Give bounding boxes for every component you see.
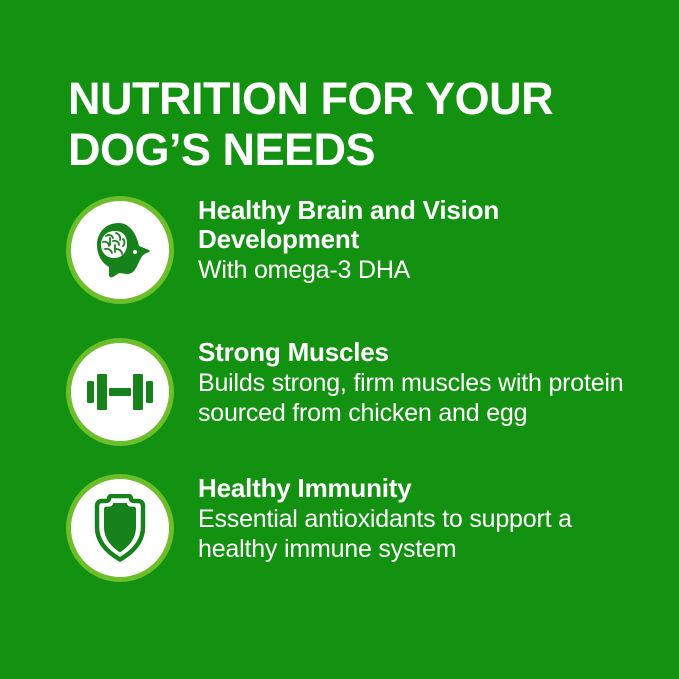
feature-text-block: Healthy Brain and Vision Development Wit…	[174, 188, 650, 285]
shield-icon	[89, 494, 151, 562]
nutrition-benefits-panel: NUTRITION FOR YOUR DOG’S NEEDS	[0, 0, 679, 679]
feature-title: Strong Muscles	[198, 338, 650, 367]
feature-title: Healthy Immunity	[198, 474, 650, 503]
feature-text-block: Strong Muscles Builds strong, firm muscl…	[174, 330, 650, 428]
feature-description: Essential antioxidants to support a heal…	[198, 504, 650, 564]
feature-list: Healthy Brain and Vision Development Wit…	[0, 188, 679, 582]
feature-icon-badge	[66, 474, 174, 582]
dog-head-brain-icon	[89, 221, 151, 279]
feature-description: With omega-3 DHA	[198, 255, 650, 285]
feature-icon-badge	[66, 338, 174, 446]
list-item: Healthy Immunity Essential antioxidants …	[0, 466, 679, 582]
list-item: Strong Muscles Builds strong, firm muscl…	[0, 330, 679, 446]
feature-title: Healthy Brain and Vision Development	[198, 196, 650, 254]
feature-icon-badge	[66, 196, 174, 304]
feature-text-block: Healthy Immunity Essential antioxidants …	[174, 466, 650, 564]
feature-description: Builds strong, firm muscles with protein…	[198, 368, 650, 428]
list-item: Healthy Brain and Vision Development Wit…	[0, 188, 679, 304]
page-title: NUTRITION FOR YOUR DOG’S NEEDS	[68, 74, 628, 175]
dumbbell-icon	[87, 372, 153, 412]
